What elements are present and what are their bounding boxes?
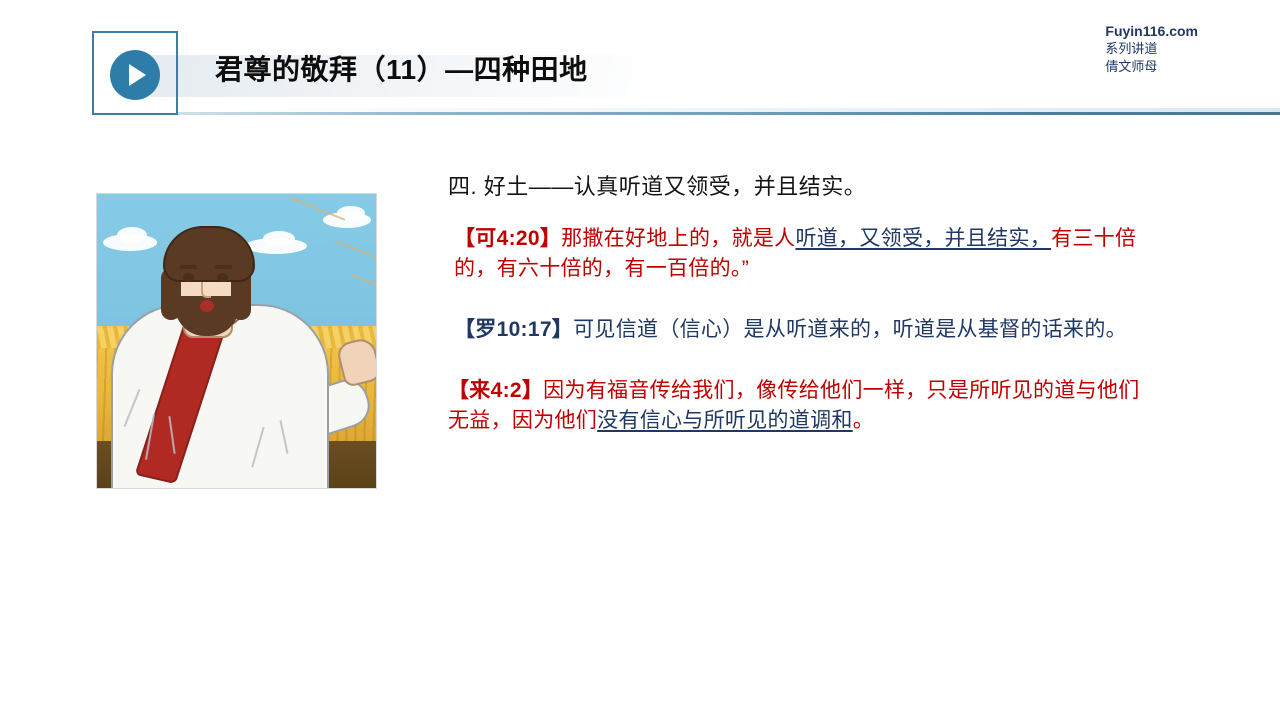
figure-eye bbox=[183, 273, 194, 282]
verse-reference: 【可4:20】 bbox=[454, 227, 561, 250]
jesus-in-wheat-field-illustration bbox=[96, 193, 377, 489]
verse-highlight: 没有信心与所听见的道调和 bbox=[597, 409, 853, 432]
verse-block-romans: 【罗10:17】可见信道（信心）是从听道来的，听道是从基督的话来的。 bbox=[448, 315, 1148, 346]
brand-site: Fuyin116.com bbox=[1105, 22, 1198, 40]
verse-text-part1: 那撒在好地上的，就是人 bbox=[561, 227, 795, 250]
figure-mouth bbox=[200, 300, 214, 312]
verse-block-hebrews: 【来4:2】因为有福音传给我们，像传给他们一样，只是所听见的道与他们无益，因为他… bbox=[448, 376, 1148, 437]
slide-content: 四. 好土——认真听道又领受，并且结实。 【可4:20】那撒在好地上的，就是人听… bbox=[448, 172, 1148, 461]
brand-speaker-label: 倩文师母 bbox=[1105, 58, 1198, 75]
verse-text-part2: 。 bbox=[853, 409, 874, 432]
figure-eyebrow bbox=[215, 265, 232, 269]
play-triangle-icon bbox=[129, 64, 146, 86]
figure-eye bbox=[217, 273, 228, 282]
section-heading: 四. 好土——认真听道又领受，并且结实。 bbox=[448, 172, 1148, 202]
cloud-icon bbox=[263, 231, 295, 246]
verse-text: 可见信道（信心）是从听道来的，听道是从基督的话来的。 bbox=[573, 318, 1127, 341]
slide-header: 君尊的敬拜（11）—四种田地 Fuyin116.com 系列讲道 倩文师母 bbox=[0, 0, 1280, 130]
figure-eyebrow bbox=[180, 265, 197, 269]
page-title: 君尊的敬拜（11）—四种田地 bbox=[215, 48, 588, 88]
verse-reference: 【罗10:17】 bbox=[454, 318, 573, 341]
figure-nose bbox=[201, 282, 211, 298]
verse-highlight: 听道，又领受，并且结实， bbox=[795, 227, 1051, 250]
header-divider bbox=[178, 112, 1280, 115]
brand-series-label: 系列讲道 bbox=[1105, 40, 1198, 57]
cloud-icon bbox=[117, 227, 147, 243]
verse-block-mark: 【可4:20】那撒在好地上的，就是人听道，又领受，并且结实，有三十倍的，有六十倍… bbox=[448, 224, 1148, 285]
verse-reference: 【来4:2】 bbox=[448, 379, 543, 402]
play-button-icon[interactable] bbox=[110, 50, 160, 100]
brand-block: Fuyin116.com 系列讲道 倩文师母 bbox=[1105, 22, 1198, 75]
